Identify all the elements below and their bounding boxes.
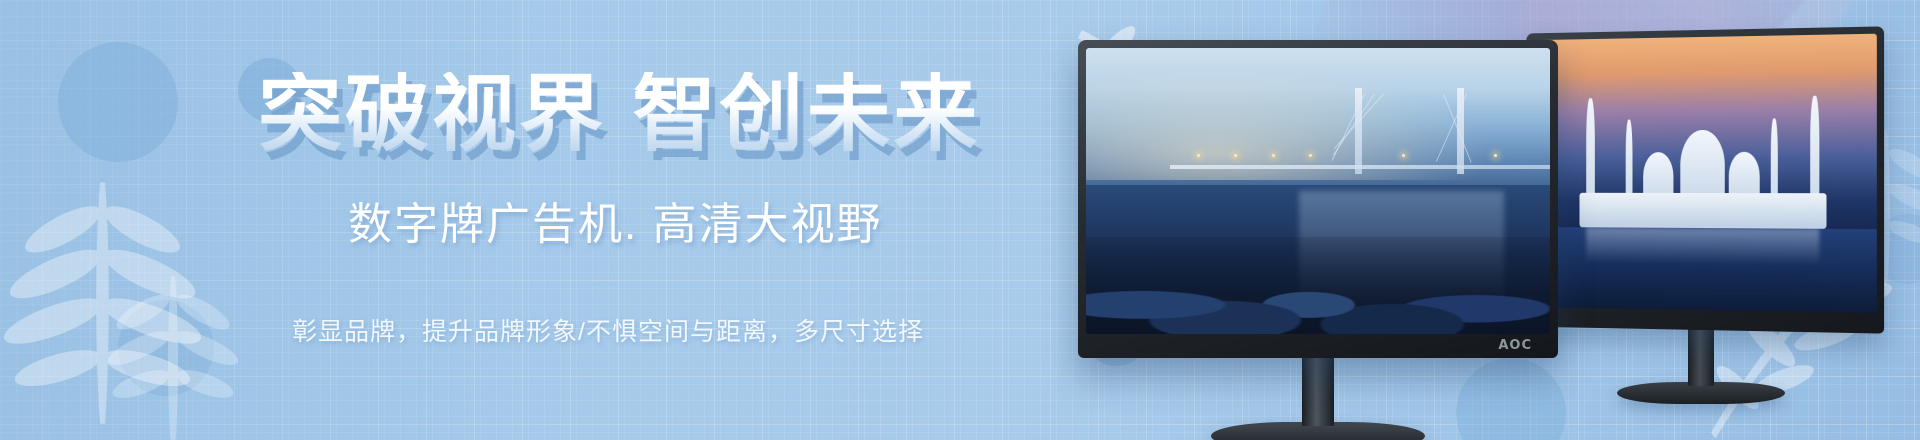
dome-center bbox=[1680, 130, 1725, 201]
banner-tagline: 彰显品牌，提升品牌形象/不惧空间与距离，多尺寸选择 bbox=[292, 312, 924, 348]
bridge-lamp-3 bbox=[1272, 154, 1275, 157]
monitor-front: AOC bbox=[1078, 40, 1558, 358]
bridge-scene bbox=[1086, 48, 1550, 334]
monitor-front-bezel: AOC bbox=[1078, 40, 1558, 358]
product-monitors: AOC bbox=[1060, 0, 1920, 440]
monitor-front-logo: AOC bbox=[1498, 338, 1532, 353]
mosque-base bbox=[1579, 192, 1827, 228]
promo-banner: 突破视界 智创未来 数字牌广告机. 高清大视野 彰显品牌，提升品牌形象/不惧空间… bbox=[0, 0, 1920, 440]
banner-headline: 突破视界 智创未来 bbox=[258, 72, 980, 156]
bridge-lamp-5 bbox=[1402, 154, 1405, 157]
monitor-front-stand-neck bbox=[1302, 356, 1334, 426]
mosque-scene bbox=[1533, 34, 1877, 313]
minaret-right bbox=[1811, 96, 1820, 207]
monitor-back: AOC bbox=[1520, 30, 1882, 330]
monitor-back-screen bbox=[1533, 34, 1877, 313]
monitor-back-stand-neck bbox=[1688, 328, 1714, 386]
monitor-front-screen bbox=[1086, 48, 1550, 334]
mosque-reflection bbox=[1586, 227, 1820, 265]
monitor-back-bezel: AOC bbox=[1526, 26, 1884, 333]
banner-copy: 突破视界 智创未来 数字牌广告机. 高清大视野 彰显品牌，提升品牌形象/不惧空间… bbox=[0, 0, 1060, 440]
bridge-lamp-4 bbox=[1309, 154, 1312, 157]
bridge-sky-glow bbox=[1086, 48, 1550, 180]
bridge-deck bbox=[1170, 165, 1550, 169]
bridge-rocks bbox=[1086, 237, 1550, 334]
banner-subtitle: 数字牌广告机. 高清大视野 bbox=[348, 188, 882, 252]
minaret-left bbox=[1586, 98, 1595, 206]
